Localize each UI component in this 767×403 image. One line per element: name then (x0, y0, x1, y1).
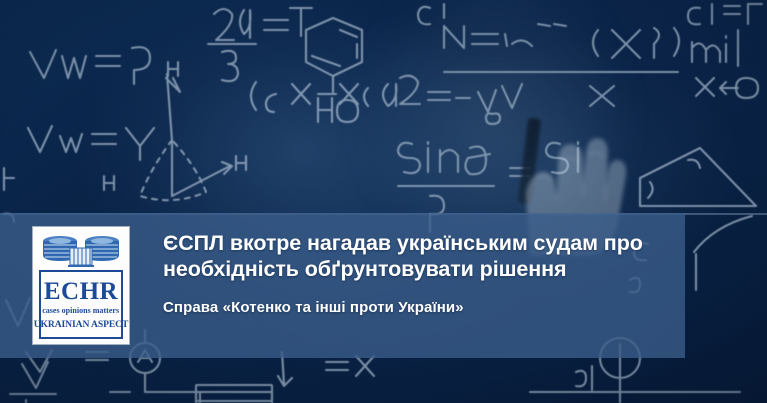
logo-subtitle: UKRAINIAN ASPECT (34, 319, 129, 331)
echr-building-icon (40, 234, 122, 268)
banner-image: ECHR cases opinions matters UKRAINIAN AS… (0, 0, 767, 403)
echr-logo[interactable]: ECHR cases opinions matters UKRAINIAN AS… (33, 227, 129, 344)
banner-subline: Справа «Котенко та інші проти України» (163, 298, 668, 317)
banner-panel: ECHR cases opinions matters UKRAINIAN AS… (0, 213, 685, 358)
echr-logo-text-frame: ECHR cases opinions matters UKRAINIAN AS… (39, 270, 123, 339)
banner-headline: ЄСПЛ вкотре нагадав українським судам пр… (163, 231, 668, 282)
logo-acronym: ECHR (44, 279, 118, 304)
logo-tagline: cases opinions matters (43, 306, 120, 316)
banner-text-block: ЄСПЛ вкотре нагадав українським судам пр… (163, 231, 668, 317)
